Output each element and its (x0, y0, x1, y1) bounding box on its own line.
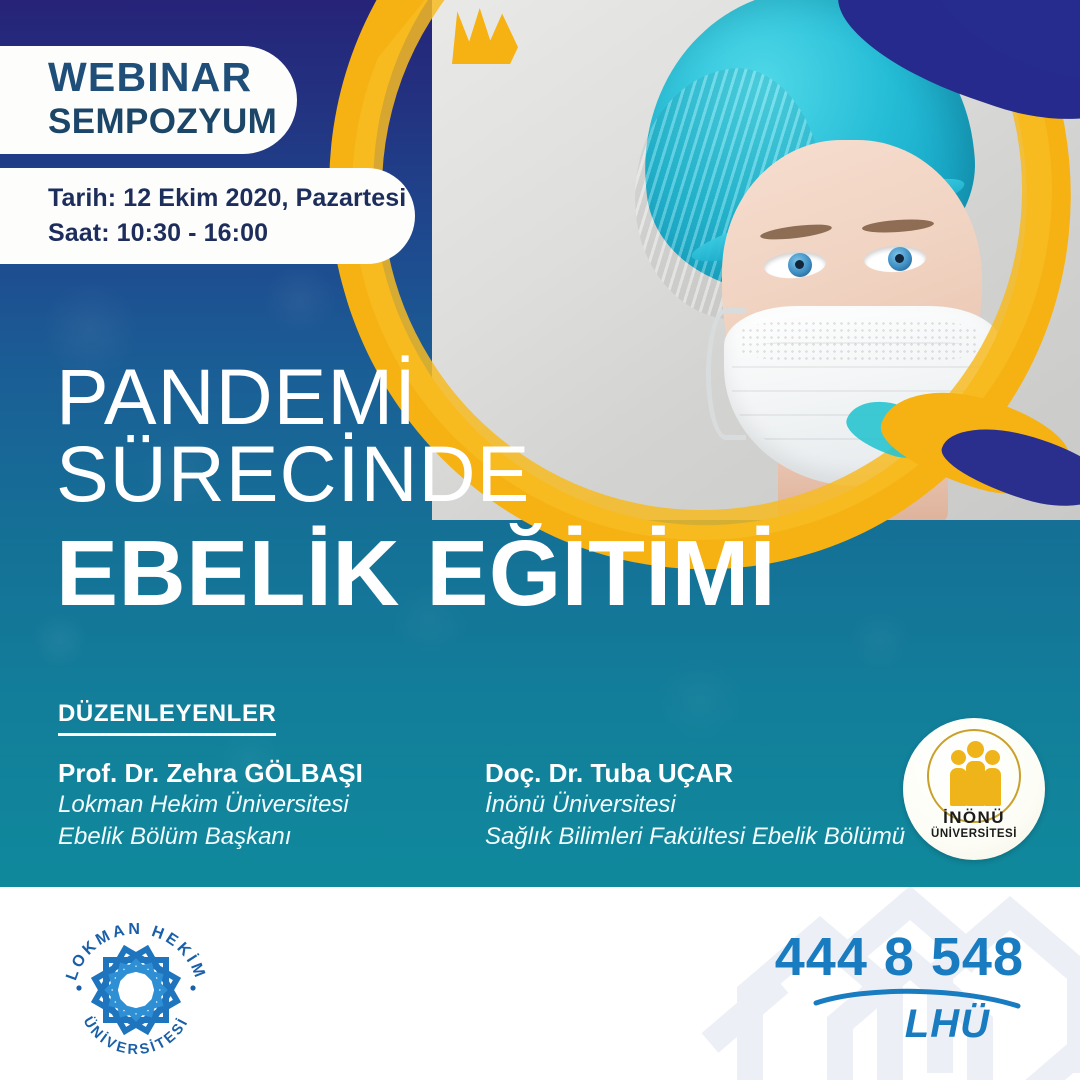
webinar-label: WEBINAR (48, 57, 297, 98)
organizer-card: Prof. Dr. Zehra GÖLBAŞI Lokman Hekim Üni… (58, 758, 433, 853)
organizer-affiliation-2: Ebelik Bölüm Başkanı (58, 821, 433, 853)
date-badge: Tarih: 12 Ekim 2020, Pazartesi Saat: 10:… (0, 168, 415, 264)
inonu-figure-head-right (985, 750, 1000, 765)
phone-number[interactable]: 444 8 548 (774, 930, 1024, 984)
organizers-section: DÜZENLEYENLER Prof. Dr. Zehra GÖLBAŞI Lo… (58, 700, 938, 853)
organizer-name: Doç. Dr. Tuba UÇAR (485, 758, 860, 789)
lokman-hekim-logo-mark: LOKMAN HEKİM ÜNİVERSİTESİ (52, 910, 220, 1068)
sempozyum-label: SEMPOZYUM (48, 101, 297, 142)
inonu-figure-body-center (966, 761, 985, 806)
headline-line-1: PANDEMİ (56, 358, 896, 435)
organizer-name: Prof. Dr. Zehra GÖLBAŞI (58, 758, 433, 789)
date-label: Tarih: 12 Ekim 2020, Pazartesi (48, 181, 415, 217)
headline-line-2: SÜRECİNDE (56, 435, 896, 512)
organizer-affiliation-1: Lokman Hekim Üniversitesi (58, 789, 433, 821)
time-label: Saat: 10:30 - 16:00 (48, 216, 415, 252)
webinar-badge: WEBINAR SEMPOZYUM (0, 46, 297, 154)
contact-block[interactable]: 444 8 548 LHÜ (774, 930, 1024, 1044)
organizer-affiliation-2: Sağlık Bilimleri Fakültesi Ebelik Bölümü (485, 821, 860, 853)
lokman-logo-top-text: LOKMAN HEKİM (63, 921, 209, 983)
inonu-figure-body-left (950, 768, 967, 806)
page-title: PANDEMİ SÜRECİNDE EBELİK EĞİTİMİ (56, 358, 896, 620)
swash-underline-icon (812, 986, 1022, 1012)
inonu-logo-name: İNÖNÜ (903, 808, 1045, 828)
lokman-hekim-university-logo: LOKMAN HEKİM ÜNİVERSİTESİ (52, 910, 220, 1068)
inonu-figure-head-center (967, 741, 984, 758)
inonu-figure-body-right (984, 768, 1001, 806)
webinar-poster: WEBINAR SEMPOZYUM Tarih: 12 Ekim 2020, P… (0, 0, 1080, 1080)
svg-text:LOKMAN HEKİM: LOKMAN HEKİM (63, 921, 209, 983)
inonu-figure-head-left (951, 750, 966, 765)
organizer-affiliation-1: İnönü Üniversitesi (485, 789, 860, 821)
inonu-logo-subtitle: ÜNİVERSİTESİ (903, 828, 1045, 840)
inonu-university-logo: İNÖNÜ ÜNİVERSİTESİ (903, 718, 1045, 860)
organizers-heading: DÜZENLEYENLER (58, 700, 276, 736)
organizer-card: Doç. Dr. Tuba UÇAR İnönü Üniversitesi Sa… (485, 758, 860, 853)
organizers-columns: Prof. Dr. Zehra GÖLBAŞI Lokman Hekim Üni… (58, 758, 938, 853)
headline-line-3: EBELİK EĞİTİMİ (56, 527, 896, 620)
